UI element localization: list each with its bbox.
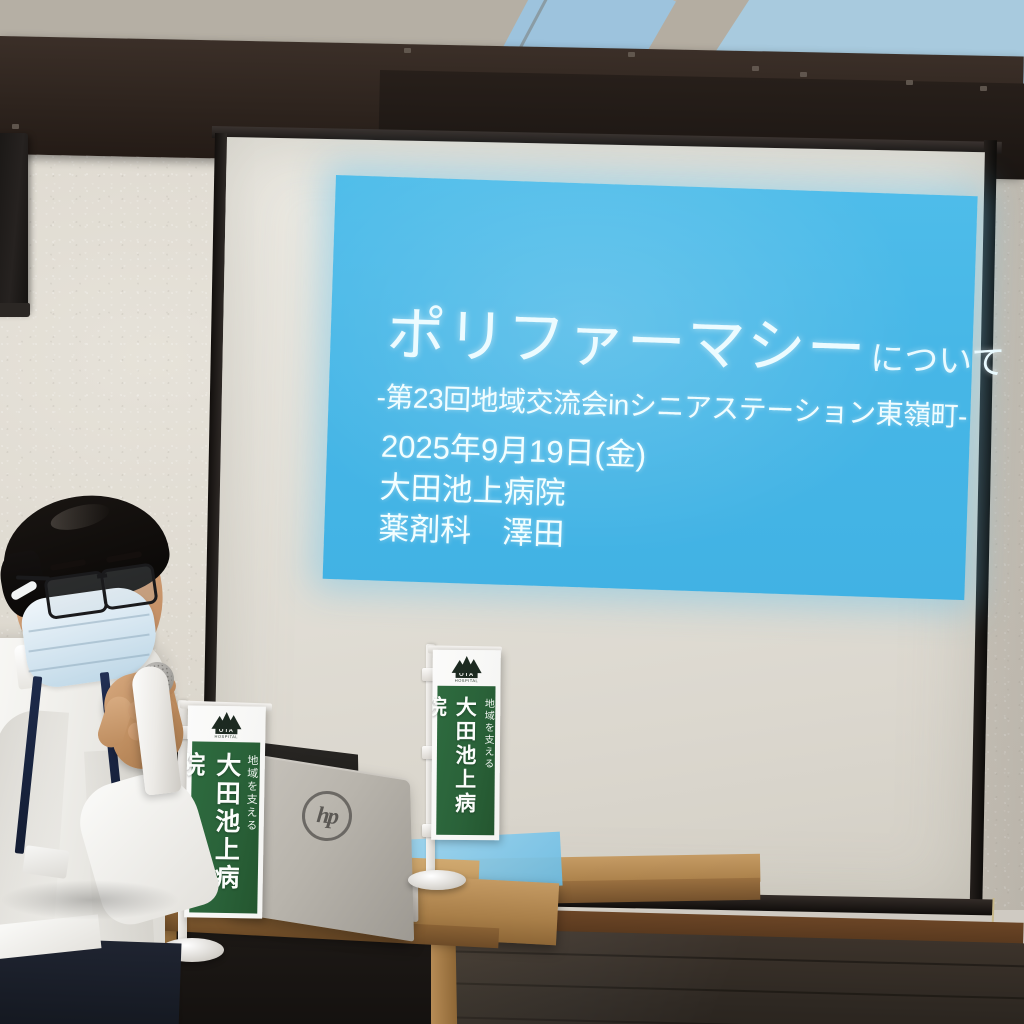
beam-screw xyxy=(628,52,635,57)
banner-base xyxy=(408,870,466,890)
slide-title-main: ポリファーマシー xyxy=(386,305,868,380)
beam-screw xyxy=(980,86,987,91)
slide-presenter: 薬剤科 澤田 xyxy=(378,508,645,558)
hospital-logo: OTA HOSPITAL xyxy=(433,654,501,685)
eyeglasses-lens-right xyxy=(99,562,158,610)
wall-speaker-bracket xyxy=(0,303,30,317)
slide-title-suffix: について xyxy=(870,342,1006,380)
mountain-icon xyxy=(452,655,482,672)
presenter-shadow xyxy=(0,880,180,920)
beam-screw xyxy=(12,124,19,129)
banner-tagline: 地域を支える xyxy=(479,698,495,835)
banner-tagline: 地域を支える xyxy=(241,754,260,913)
beam-screw xyxy=(800,72,807,77)
projected-slide: ポリファーマシー について -第23回地域交流会inシニアステーション東嶺町- … xyxy=(323,175,978,600)
logo-sub: HOSPITAL xyxy=(455,677,479,682)
wall-speaker xyxy=(0,133,28,311)
beam-screw xyxy=(404,48,411,53)
beam-screw xyxy=(752,66,759,71)
banner-hospital-name: 大田池上病院 xyxy=(431,696,480,836)
hospital-banner: OTA HOSPITAL 地域を支える 大田池上病院 みんなで支える・まちの病院 xyxy=(431,650,501,841)
presentation-photo-scene: ポリファーマシー について -第23回地域交流会inシニアステーション東嶺町- … xyxy=(0,0,1024,1024)
slide-body: 2025年9月19日(金) 大田池上病院 薬剤科 澤田 xyxy=(378,427,647,558)
slide-content: ポリファーマシー について -第23回地域交流会inシニアステーション東嶺町- … xyxy=(323,175,978,600)
id-badge xyxy=(22,845,69,879)
slide-title-row: ポリファーマシー について xyxy=(386,305,1007,384)
banner-green-field: 地域を支える 大田池上病院 みんなで支える・まちの病院 xyxy=(436,686,495,836)
slide-subtitle: -第23回地域交流会inシニアステーション東嶺町- xyxy=(376,375,968,435)
beam-screw xyxy=(906,80,913,85)
banner-stand-right: OTA HOSPITAL 地域を支える 大田池上病院 みんなで支える・まちの病院 xyxy=(404,638,524,903)
